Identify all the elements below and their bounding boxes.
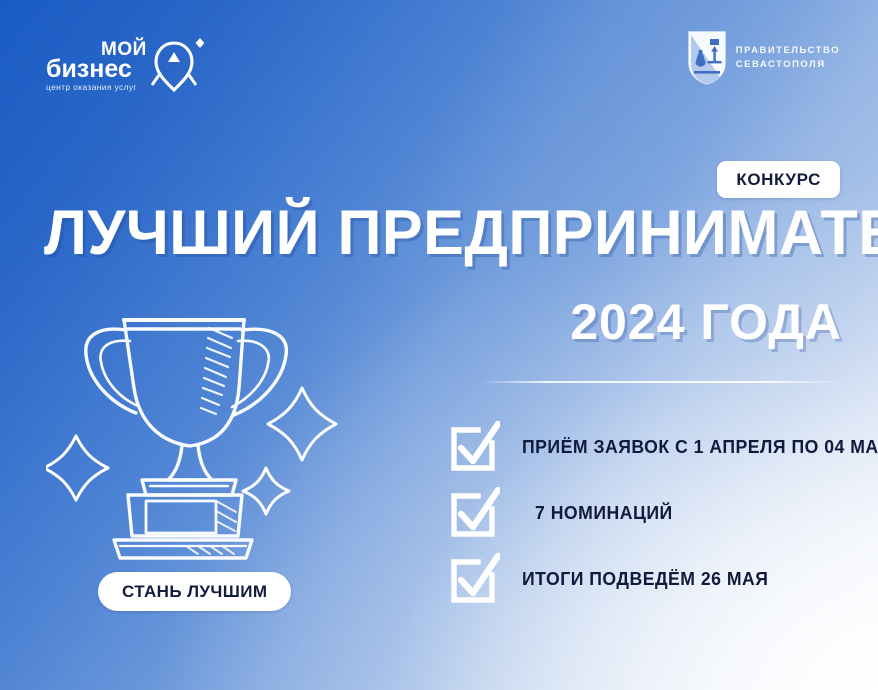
trophy-sketch-illustration	[46, 296, 346, 578]
list-item-label: 7 НОМИНАЦИЙ	[535, 503, 673, 524]
government-logo-text: ПРАВИТЕЛЬСТВО СЕВАСТОПОЛЯ	[736, 44, 840, 72]
checkbox-checked-icon	[448, 553, 500, 605]
sevastopol-coat-of-arms-icon	[687, 30, 727, 86]
konkurs-badge: КОНКУРС	[717, 161, 840, 198]
government-line1: ПРАВИТЕЛЬСТВО	[736, 44, 840, 58]
list-item: ПРИЁМ ЗАЯВОК С 1 АПРЕЛЯ ПО 04 МАЯ	[448, 414, 848, 480]
pin-rocket-icon	[152, 43, 196, 90]
trophy-hatching	[201, 328, 232, 414]
cta-button[interactable]: СТАНЬ ЛУЧШИМ	[98, 572, 291, 611]
headline-divider	[480, 381, 842, 383]
page-title-year: 2024 ГОДА	[570, 297, 842, 347]
government-logo: ПРАВИТЕЛЬСТВО СЕВАСТОПОЛЯ	[687, 30, 840, 86]
promo-poster: МОЙ бизнес центр оказания услуг	[0, 0, 878, 690]
checklist: ПРИЁМ ЗАЯВОК С 1 АПРЕЛЯ ПО 04 МАЯ 7 НОМИ…	[448, 414, 848, 612]
page-title: ЛУЧШИЙ ПРЕДПРИНИМАТЕЛЬ	[44, 203, 820, 263]
list-item: ИТОГИ ПОДВЕДЁМ 26 МАЯ	[448, 546, 848, 612]
pin-sparkle-icon	[196, 38, 205, 48]
government-line2: СЕВАСТОПОЛЯ	[736, 58, 840, 72]
my-business-logo-svg: МОЙ бизнес центр оказания услуг	[44, 33, 204, 95]
my-business-line2-text: бизнес	[46, 55, 132, 83]
trophy-svg	[46, 296, 346, 578]
list-item-label: ИТОГИ ПОДВЕДЁМ 26 МАЯ	[522, 569, 768, 590]
list-item: 7 НОМИНАЦИЙ	[448, 480, 848, 546]
list-item-label: ПРИЁМ ЗАЯВОК С 1 АПРЕЛЯ ПО 04 МАЯ	[522, 437, 878, 458]
my-business-logo: МОЙ бизнес центр оказания услуг	[44, 33, 204, 95]
checkbox-checked-icon	[448, 487, 500, 539]
checkbox-checked-icon	[448, 421, 500, 473]
my-business-tagline-text: центр оказания услуг	[46, 82, 137, 92]
